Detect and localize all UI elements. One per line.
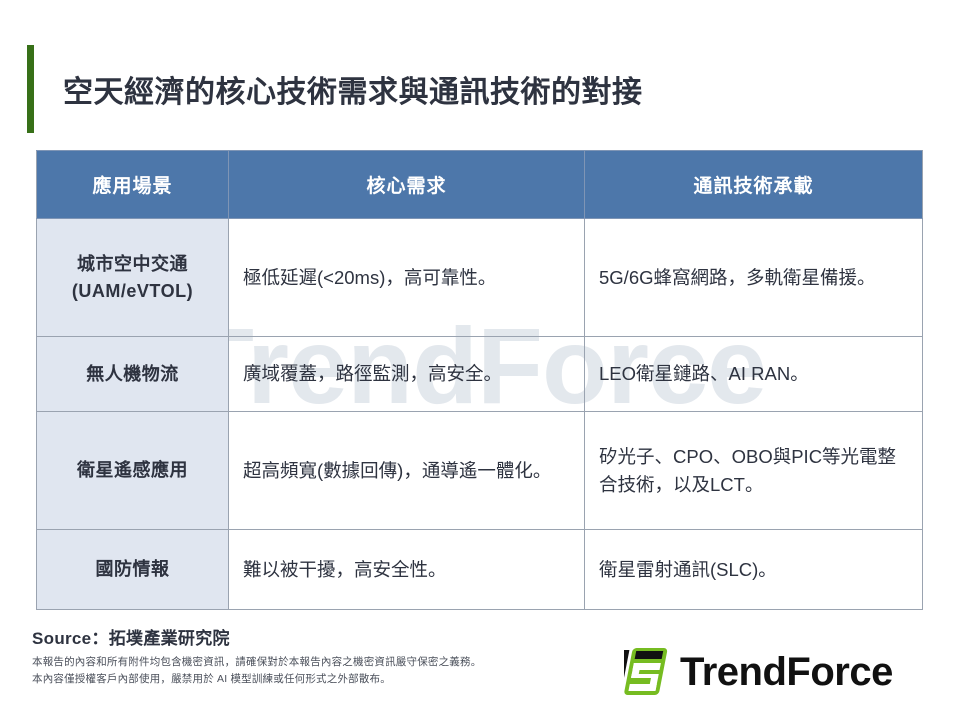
scenario-line-2: (UAM/eVTOL) bbox=[72, 281, 193, 301]
column-header-scenario: 應用場景 bbox=[37, 151, 229, 219]
cell-requirement: 極低延遲(<20ms)，高可靠性。 bbox=[229, 219, 585, 337]
table-row: 衛星遙感應用 超高頻寬(數據回傳)，通導遙一體化。 矽光子、CPO、OBO與PI… bbox=[37, 412, 923, 530]
trendforce-logo-icon bbox=[624, 647, 671, 697]
cell-technology: 5G/6G蜂窩網路，多軌衛星備援。 bbox=[585, 219, 923, 337]
cell-scenario: 衛星遙感應用 bbox=[37, 412, 229, 530]
trendforce-logo: TrendForce bbox=[624, 644, 893, 700]
disclaimer-line-2: 本內容僅授權客戶內部使用，嚴禁用於 AI 模型訓練或任何形式之外部散布。 bbox=[32, 671, 481, 688]
table-header-row: 應用場景 核心需求 通訊技術承載 bbox=[37, 151, 923, 219]
comparison-table: 應用場景 核心需求 通訊技術承載 城市空中交通 (UAM/eVTOL) 極低延遲… bbox=[36, 150, 923, 610]
cell-scenario: 城市空中交通 (UAM/eVTOL) bbox=[37, 219, 229, 337]
comparison-table-wrapper: 應用場景 核心需求 通訊技術承載 城市空中交通 (UAM/eVTOL) 極低延遲… bbox=[36, 150, 922, 610]
disclaimer-text: 本報告的內容和所有附件均包含機密資訊，請確保對於本報告內容之機密資訊嚴守保密之義… bbox=[32, 654, 481, 689]
table-row: 無人機物流 廣域覆蓋，路徑監測，高安全。 LEO衛星鏈路、AI RAN。 bbox=[37, 337, 923, 412]
table-body: 城市空中交通 (UAM/eVTOL) 極低延遲(<20ms)，高可靠性。 5G/… bbox=[37, 219, 923, 610]
cell-technology: 矽光子、CPO、OBO與PIC等光電整合技術，以及LCT。 bbox=[585, 412, 923, 530]
source-label: Source：拓墣產業研究院 bbox=[32, 624, 230, 649]
cell-scenario: 無人機物流 bbox=[37, 337, 229, 412]
disclaimer-line-1: 本報告的內容和所有附件均包含機密資訊，請確保對於本報告內容之機密資訊嚴守保密之義… bbox=[32, 654, 481, 671]
slide-canvas: 空天經濟的核心技術需求與通訊技術的對接 TrendForce 應用場景 bbox=[0, 0, 960, 720]
column-header-technology: 通訊技術承載 bbox=[585, 151, 923, 219]
cell-requirement: 廣域覆蓋，路徑監測，高安全。 bbox=[229, 337, 585, 412]
table-header: 應用場景 核心需求 通訊技術承載 bbox=[37, 151, 923, 219]
cell-scenario: 國防情報 bbox=[37, 530, 229, 610]
trendforce-logo-text: TrendForce bbox=[680, 652, 893, 692]
scenario-line-1: 城市空中交通 bbox=[77, 254, 188, 274]
cell-technology: 衛星雷射通訊(SLC)。 bbox=[585, 530, 923, 610]
table-row: 國防情報 難以被干擾，高安全性。 衛星雷射通訊(SLC)。 bbox=[37, 530, 923, 610]
cell-requirement: 超高頻寬(數據回傳)，通導遙一體化。 bbox=[229, 412, 585, 530]
page-title-block: 空天經濟的核心技術需求與通訊技術的對接 bbox=[27, 45, 643, 133]
table-row: 城市空中交通 (UAM/eVTOL) 極低延遲(<20ms)，高可靠性。 5G/… bbox=[37, 219, 923, 337]
page-title: 空天經濟的核心技術需求與通訊技術的對接 bbox=[63, 67, 643, 111]
cell-requirement: 難以被干擾，高安全性。 bbox=[229, 530, 585, 610]
column-header-requirement: 核心需求 bbox=[229, 151, 585, 219]
title-accent-bar bbox=[27, 45, 34, 133]
cell-technology: LEO衛星鏈路、AI RAN。 bbox=[585, 337, 923, 412]
